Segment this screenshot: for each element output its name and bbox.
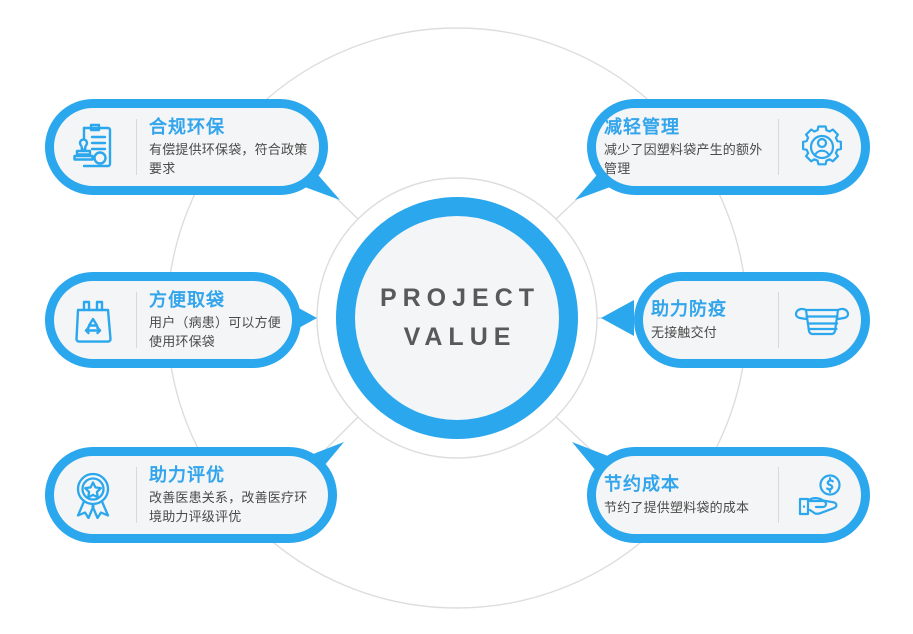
card-description: 有偿提供环保袋，符合政策要求 [149,141,311,179]
card-management[interactable]: 减轻管理 减少了因塑料袋产生的额外管理 [587,99,870,195]
card-description: 减少了因塑料袋产生的额外管理 [604,141,766,179]
card-divider [778,467,779,523]
card-divider [136,119,137,175]
card-divider [136,292,137,348]
document-stamp-icon [62,123,124,171]
card-divider [778,119,779,175]
card-title: 助力防疫 [651,297,766,321]
card-description: 无接触交付 [651,324,766,343]
card-description: 节约了提供塑料袋的成本 [604,499,766,518]
hand-money-icon [791,473,853,517]
card-divider [136,467,137,523]
hub-line-1: PROJECT [374,279,540,318]
face-mask-icon [791,301,853,339]
card-title: 方便取袋 [149,288,284,312]
card-title: 节约成本 [604,472,766,496]
center-hub: PROJECT VALUE [336,197,578,439]
card-epidemic[interactable]: 助力防疫 无接触交付 [634,272,870,368]
medal-ribbon-icon [62,471,124,519]
hub-label: PROJECT VALUE [374,279,540,357]
tail-middle-right [600,296,634,340]
card-divider [778,292,779,348]
infographic-canvas: PROJECT VALUE [0,0,913,634]
gear-person-icon [791,124,853,170]
card-title: 合规环保 [149,115,311,139]
card-title: 助力评优 [149,463,320,487]
card-description: 改善医患关系，改善医疗环境助力评级评优 [149,489,320,527]
card-description: 用户（病患）可以方便使用环保袋 [149,314,284,352]
recycle-bag-icon [62,297,124,343]
card-compliance[interactable]: 合规环保 有偿提供环保袋，符合政策要求 [45,99,328,195]
card-cost-saving[interactable]: 节约成本 节约了提供塑料袋的成本 [587,447,870,543]
card-convenient-bag[interactable]: 方便取袋 用户（病患）可以方便使用环保袋 [45,272,301,368]
hub-line-2: VALUE [374,318,540,357]
card-title: 减轻管理 [604,115,766,139]
card-evaluation[interactable]: 助力评优 改善医患关系，改善医疗环境助力评级评优 [45,447,337,543]
